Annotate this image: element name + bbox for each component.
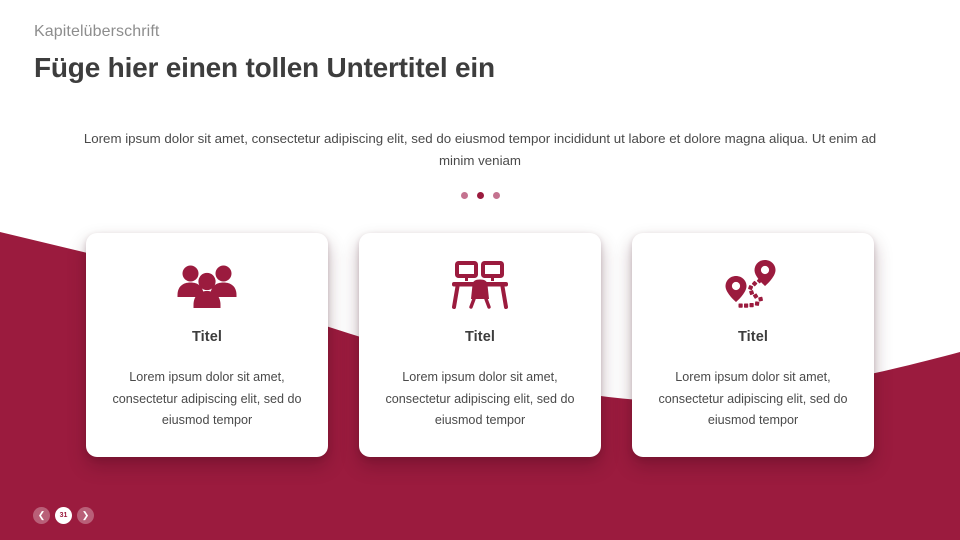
chevron-right-icon: ❯ bbox=[82, 511, 90, 520]
page-number-badge[interactable]: 31 bbox=[55, 507, 72, 524]
feature-card-1[interactable]: Titel Lorem ipsum dolor sit amet, consec… bbox=[86, 233, 328, 457]
chevron-left-icon: ❮ bbox=[38, 511, 46, 520]
chapter-heading: Kapitelüberschrift bbox=[34, 22, 495, 43]
next-slide-button[interactable]: ❯ bbox=[77, 507, 94, 524]
card-title: Titel bbox=[738, 329, 768, 345]
pagination-controls: ❮ 31 ❯ bbox=[33, 507, 94, 524]
slide-canvas: Kapitelüberschrift Füge hier einen tolle… bbox=[0, 0, 960, 540]
card-title: Titel bbox=[465, 329, 495, 345]
people-group-icon bbox=[176, 259, 238, 313]
dot-2 bbox=[477, 192, 484, 199]
dot-separator bbox=[0, 192, 960, 199]
dot-3 bbox=[493, 192, 500, 199]
card-title: Titel bbox=[192, 329, 222, 345]
feature-card-row: Titel Lorem ipsum dolor sit amet, consec… bbox=[0, 233, 960, 457]
header-block: Kapitelüberschrift Füge hier einen tolle… bbox=[34, 22, 495, 87]
feature-card-2[interactable]: Titel Lorem ipsum dolor sit amet, consec… bbox=[359, 233, 601, 457]
workstation-desk-icon bbox=[450, 259, 510, 313]
card-body-text: Lorem ipsum dolor sit amet, consectetur … bbox=[382, 367, 578, 432]
card-body-text: Lorem ipsum dolor sit amet, consectetur … bbox=[109, 367, 305, 432]
slide-title: Füge hier einen tollen Untertitel ein bbox=[34, 49, 495, 87]
dot-1 bbox=[461, 192, 468, 199]
feature-card-3[interactable]: Titel Lorem ipsum dolor sit amet, consec… bbox=[632, 233, 874, 457]
card-body-text: Lorem ipsum dolor sit amet, consectetur … bbox=[655, 367, 851, 432]
prev-slide-button[interactable]: ❮ bbox=[33, 507, 50, 524]
intro-paragraph: Lorem ipsum dolor sit amet, consectetur … bbox=[80, 128, 880, 171]
route-map-pins-icon bbox=[724, 259, 782, 313]
